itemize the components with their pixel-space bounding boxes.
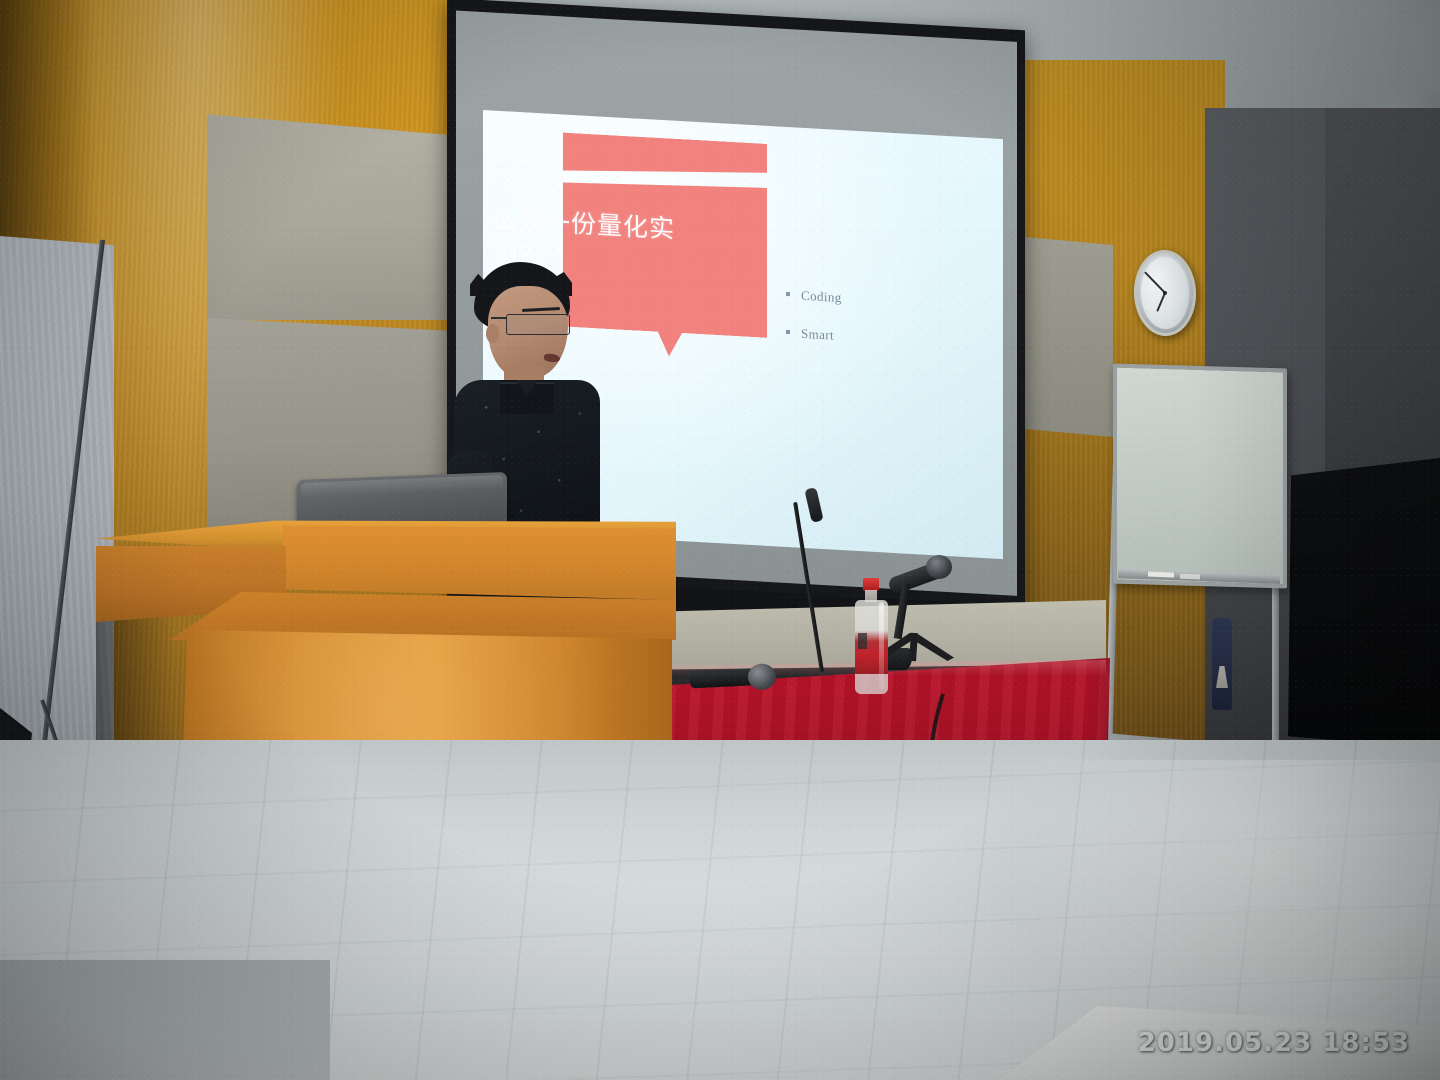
slide-bullet-list: Coding Smart	[783, 287, 983, 374]
whiteboard-eraser	[1180, 574, 1200, 580]
microphone-head	[747, 663, 776, 690]
clock-minute-hand	[1144, 272, 1165, 294]
handheld-microphone-on-stand	[880, 555, 970, 675]
whiteboard-marker	[1148, 572, 1174, 578]
floor-left-section	[0, 960, 330, 1080]
clock-face	[1140, 256, 1190, 330]
camera-timestamp: 2019.05.23 18:53	[1138, 1028, 1410, 1058]
podium-front-face	[283, 524, 676, 600]
mobile-whiteboard	[1113, 364, 1287, 589]
blue-bottle	[1212, 618, 1232, 710]
water-bottle	[855, 578, 888, 694]
bottle-highlight	[879, 602, 884, 690]
acoustic-panel-upper	[207, 110, 452, 320]
lecture-hall-photo: 么找一份量化实习？ Coding Smart	[0, 0, 1440, 1080]
handheld-microphone-on-table	[689, 663, 786, 696]
slide-bullet-item: Smart	[783, 325, 983, 352]
clock-center-pin	[1163, 291, 1167, 295]
dark-curtain-panel	[1288, 458, 1440, 748]
acoustic-panel-right	[1025, 237, 1113, 437]
microphone-tripod-leg	[909, 633, 918, 661]
microphone-head	[926, 555, 952, 579]
clock-hour-hand	[1156, 293, 1166, 312]
glasses-icon	[506, 314, 570, 335]
presenter-ear	[486, 324, 499, 343]
